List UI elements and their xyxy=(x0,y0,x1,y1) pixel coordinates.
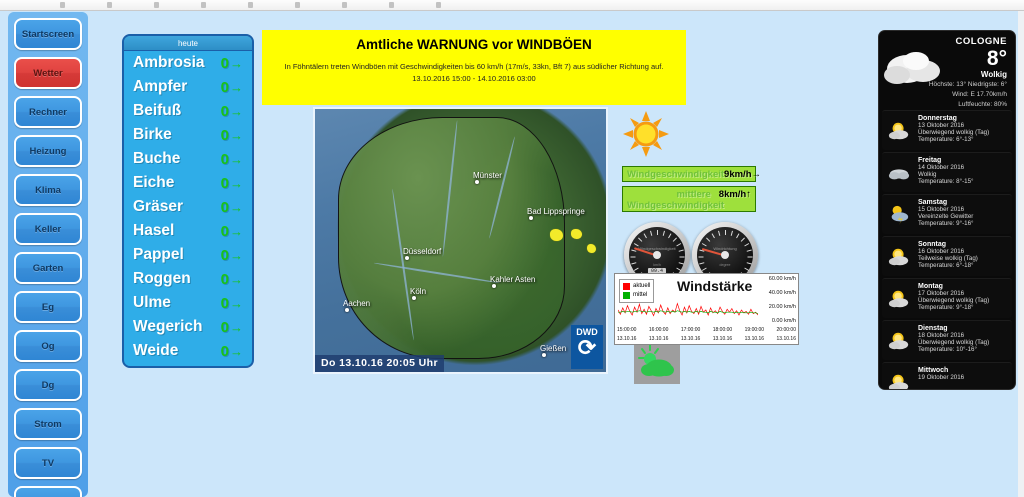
mean-wind-label-top: mittlere xyxy=(676,189,710,200)
pollen-value-group: 0→ xyxy=(221,295,243,312)
map-warning-area xyxy=(571,229,582,239)
x-tick-label: 19:00:00 xyxy=(745,327,764,333)
sidebar-item-wetter[interactable]: Wetter xyxy=(14,57,82,89)
map-city-dot xyxy=(345,308,349,312)
sidebar-item-label: Dg xyxy=(42,380,55,391)
toolbar-icon[interactable] xyxy=(436,2,441,8)
x-tick-label: 20:00:00 xyxy=(777,327,796,333)
pollen-row: Roggen0→ xyxy=(124,267,252,291)
forecast-day: Freitag xyxy=(918,157,1007,164)
pollen-row: Ambrosia0→ xyxy=(124,51,252,75)
forecast-temperature: Temperature: 9°-16° xyxy=(918,220,1007,227)
pollen-row: Buche0→ xyxy=(124,147,252,171)
toolbar-icon[interactable] xyxy=(248,2,253,8)
pollen-value-group: 0→ xyxy=(221,199,243,216)
x-tick-label: 15:00:00 xyxy=(617,327,636,333)
sidebar-item-label: Strom xyxy=(34,419,61,430)
trend-arrow-icon: → xyxy=(230,105,243,118)
trend-arrow-icon: → xyxy=(230,321,243,334)
forecast-day: Mittwoch xyxy=(918,367,1007,374)
forecast-day: Samstag xyxy=(918,199,1007,206)
pollen-name: Birke xyxy=(133,126,172,144)
x-tick-label: 13.10.16 xyxy=(745,336,764,342)
wind-speed-box: Windgeschwindigkeit 9km/h→ xyxy=(622,166,756,182)
gauge-tick xyxy=(657,230,658,235)
forecast-row[interactable]: Mittwoch19 Oktober 2016 xyxy=(882,362,1012,390)
pollen-name: Hasel xyxy=(133,222,174,240)
trend-arrow-icon: → xyxy=(230,345,243,358)
pollen-value: 0 xyxy=(221,79,229,96)
sidebar: StartscreenWetterRechnerHeizungKlimaKell… xyxy=(8,12,88,497)
pollen-value: 0 xyxy=(221,127,229,144)
gauge-tick xyxy=(638,238,642,242)
pollen-value-group: 0→ xyxy=(221,319,243,336)
pollen-row: Ulme0→ xyxy=(124,291,252,315)
map-warning-area xyxy=(587,244,596,253)
pollen-value-group: 0→ xyxy=(221,127,243,144)
forecast-day: Sonntag xyxy=(918,241,1007,248)
pollen-value: 0 xyxy=(221,55,229,72)
warning-body: In Föhntälern treten Windböen mit Geschw… xyxy=(262,61,686,84)
pollen-value: 0 xyxy=(221,319,229,336)
trend-arrow-icon: → xyxy=(230,297,243,310)
sidebar-item-dg[interactable]: Dg xyxy=(14,369,82,401)
cloud-icon xyxy=(883,43,945,91)
pollen-name: Eiche xyxy=(133,174,174,192)
forecast-description: Überwiegend wolkig (Tag) xyxy=(918,129,1007,136)
map-city-label: Bad Lippspringe xyxy=(527,207,585,216)
x-tick-label: 18:00:00 xyxy=(713,327,732,333)
sidebar-item-label: Garten xyxy=(33,263,64,274)
legend-swatch-aktuell xyxy=(623,283,630,290)
legend-label-mittel: mittel xyxy=(633,291,647,300)
gauge-tick xyxy=(680,257,685,258)
forecast-text: Freitag14 Oktober 2016WolkigTemperature:… xyxy=(918,157,1007,188)
map-city-dot xyxy=(529,216,533,220)
forecast-row[interactable]: Donnerstag13 Oktober 2016Überwiegend wol… xyxy=(882,110,1012,150)
sidebar-item-garten[interactable]: Garten xyxy=(14,252,82,284)
mean-wind-arrow-icon: ↑ xyxy=(746,189,751,200)
warning-title: Amtliche WARNUNG vor WINDBÖEN xyxy=(262,37,686,52)
forecast-temperature: Temperature: 8°-15° xyxy=(918,178,1007,185)
pollen-value: 0 xyxy=(221,343,229,360)
y-tick-label: 60.00 km/h xyxy=(769,276,796,282)
gauge-tick xyxy=(744,268,749,271)
gauge-unit-label: degree xyxy=(697,263,753,267)
legend-label-aktuell: aktuell xyxy=(633,282,650,291)
x-tick-label: 17:00:00 xyxy=(681,327,700,333)
pollen-value-group: 0→ xyxy=(221,103,243,120)
gauge-tick xyxy=(679,250,684,252)
cloud-icon xyxy=(886,157,912,188)
sidebar-item-label: Og xyxy=(41,341,54,352)
toolbar-icon[interactable] xyxy=(107,2,112,8)
toolbar-icon[interactable] xyxy=(295,2,300,8)
pollen-row: Gräser0→ xyxy=(124,195,252,219)
map-timestamp: Do 13.10.16 20:05 Uhr xyxy=(315,355,444,372)
x-tick-label: 13.10.16 xyxy=(777,336,796,342)
forecast-row[interactable]: Samstag15 Oktober 2016Vereinzelte Gewitt… xyxy=(882,194,1012,234)
forecast-row[interactable]: Montag17 Oktober 2016Überwiegend wolkig … xyxy=(882,278,1012,318)
map-city-label: Köln xyxy=(410,287,426,296)
gauge-unit-label: km/h xyxy=(629,263,685,267)
sidebar-item-label: Wetter xyxy=(33,68,62,79)
chart-legend: aktuell mittel xyxy=(619,279,654,303)
map-city-label: Kahler Asten xyxy=(490,275,535,284)
forecast-description: Vereinzelte Gewitter xyxy=(918,213,1007,220)
trend-arrow-icon: → xyxy=(230,177,243,190)
gauge-hub xyxy=(721,251,729,259)
gauge-tick xyxy=(650,231,652,236)
pollen-row: Beifuß0→ xyxy=(124,99,252,123)
chart-x-axis-dates: 13.10.1613.10.1613.10.1613.10.1613.10.16… xyxy=(617,336,796,342)
pollen-value-group: 0→ xyxy=(221,151,243,168)
sun-icon xyxy=(622,110,670,158)
forecast-temperature: Temperature: 9°-18° xyxy=(918,304,1007,311)
spiral-icon: ⟳ xyxy=(571,337,603,359)
pollen-row: Weide0→ xyxy=(124,339,252,363)
weather-humidity: Luftfeuchte: 80% xyxy=(879,100,1007,109)
gauge-tick xyxy=(702,268,707,271)
forecast-text: Donnerstag13 Oktober 2016Überwiegend wol… xyxy=(918,115,1007,146)
gauge-tick xyxy=(725,230,726,235)
pollen-value-group: 0→ xyxy=(221,55,243,72)
sidebar-item-strom[interactable]: Strom xyxy=(14,408,82,440)
pollen-value: 0 xyxy=(221,247,229,264)
sidebar-item-label: TV xyxy=(42,458,54,469)
forecast-description: Überwiegend wolkig (Tag) xyxy=(918,297,1007,304)
x-tick-label: 13.10.16 xyxy=(713,336,732,342)
sidebar-item-heizung[interactable]: Heizung xyxy=(14,135,82,167)
forecast-text: Montag17 Oktober 2016Überwiegend wolkig … xyxy=(918,283,1007,314)
gauge-tick xyxy=(699,250,704,252)
warning-text: In Föhntälern treten Windböen mit Geschw… xyxy=(285,62,664,71)
wind-speed-value: 9km/h xyxy=(724,169,751,180)
sidebar-item-klima[interactable]: Klima xyxy=(14,174,82,206)
sidebar-item-label: Keller xyxy=(35,224,61,235)
sun-cloud-icon xyxy=(886,283,912,314)
gauge-tick xyxy=(644,233,647,238)
gauge-tick xyxy=(668,233,671,238)
map-city-dot xyxy=(412,296,416,300)
x-tick-label: 13.10.16 xyxy=(649,336,668,342)
gauge-tick xyxy=(718,231,720,236)
toolbar-icon[interactable] xyxy=(60,2,65,8)
sun-cloud-icon xyxy=(886,241,912,272)
pollen-value-group: 0→ xyxy=(221,271,243,288)
forecast-date: 19 Oktober 2016 xyxy=(918,374,1007,381)
gauge-tick xyxy=(741,238,745,242)
x-tick-label: 16:00:00 xyxy=(649,327,668,333)
pollen-row: Hasel0→ xyxy=(124,219,252,243)
forecast-row[interactable]: Freitag14 Oktober 2016WolkigTemperature:… xyxy=(882,152,1012,192)
y-tick-label: 0.00 km/h xyxy=(772,318,796,324)
sidebar-item-label: Eg xyxy=(42,302,54,313)
forecast-row[interactable]: Sonntag16 Oktober 2016Teilweise wolkig (… xyxy=(882,236,1012,276)
sidebar-item-startscreen[interactable]: Startscreen xyxy=(14,18,82,50)
pollen-row: Eiche0→ xyxy=(124,171,252,195)
gauge-tick xyxy=(706,238,710,242)
sidebar-item-og[interactable]: Og xyxy=(14,330,82,362)
pollen-value: 0 xyxy=(221,271,229,288)
wind-strength-chart[interactable]: Windstärke aktuell mittel 60.00 km/h 40.… xyxy=(614,273,799,345)
pollen-value-group: 0→ xyxy=(221,175,243,192)
mean-wind-value: 8km/h xyxy=(719,189,746,200)
pollen-name: Ulme xyxy=(133,294,171,312)
gauge-tick xyxy=(747,250,752,252)
wind-direction-arrow-icon: → xyxy=(752,169,762,180)
pollen-name: Beifuß xyxy=(133,102,181,120)
y-tick-label: 20.00 km/h xyxy=(769,304,796,310)
forecast-temperature: Temperature: 10°-16° xyxy=(918,346,1007,353)
forecast-day: Dienstag xyxy=(918,325,1007,332)
pollen-value: 0 xyxy=(221,223,229,240)
map-city-dot xyxy=(405,256,409,260)
forecast-row[interactable]: Dienstag18 Oktober 2016Überwiegend wolki… xyxy=(882,320,1012,360)
chart-title: Windstärke xyxy=(677,278,752,294)
sidebar-item-label: Heizung xyxy=(30,146,67,157)
forecast-date: 15 Oktober 2016 xyxy=(918,206,1007,213)
pollen-row: Ampfer0→ xyxy=(124,75,252,99)
sidebar-item-keller[interactable]: Keller xyxy=(14,213,82,245)
pollen-name: Pappel xyxy=(133,246,184,264)
forecast-day: Donnerstag xyxy=(918,115,1007,122)
pollen-name: Ampfer xyxy=(133,78,187,96)
page-scrollbar[interactable] xyxy=(1018,11,1024,497)
legend-item: aktuell xyxy=(623,282,650,291)
gauge-tick xyxy=(736,233,739,238)
gauge-tick xyxy=(748,257,753,258)
sidebar-item-label: Klima xyxy=(35,185,61,196)
pollen-name: Roggen xyxy=(133,270,191,288)
warning-period: 13.10.2016 15:00 - 14.10.2016 03:00 xyxy=(412,74,535,83)
sidebar-item-rechner[interactable]: Rechner xyxy=(14,96,82,128)
forecast-description: Teilweise wolkig (Tag) xyxy=(918,255,1007,262)
legend-swatch-mittel xyxy=(623,292,630,299)
sun-cloud-icon xyxy=(886,115,912,146)
forecast-description: Überwiegend wolkig (Tag) xyxy=(918,339,1007,346)
wind-speed-label: Windgeschwindigkeit xyxy=(627,169,724,180)
pollen-row: Pappel0→ xyxy=(124,243,252,267)
gauge-tick xyxy=(731,231,733,236)
forecast-text: Samstag15 Oktober 2016Vereinzelte Gewitt… xyxy=(918,199,1007,230)
pollen-value: 0 xyxy=(221,199,229,216)
map-city-dot xyxy=(475,180,479,184)
forecast-temperature: Temperature: 6°-18° xyxy=(918,262,1007,269)
pollen-value: 0 xyxy=(221,103,229,120)
map-city-dot xyxy=(492,284,496,288)
dwd-logo: DWD ⟳ xyxy=(571,325,603,369)
sidebar-item-eg[interactable]: Eg xyxy=(14,291,82,323)
legend-item: mittel xyxy=(623,291,650,300)
chart-series-aktuell xyxy=(618,304,758,316)
sidebar-item-label: Startscreen xyxy=(22,29,74,40)
forecast-text: Sonntag16 Oktober 2016Teilweise wolkig (… xyxy=(918,241,1007,272)
trend-arrow-icon: → xyxy=(230,249,243,262)
forecast-day: Montag xyxy=(918,283,1007,290)
pollen-value-group: 0→ xyxy=(221,223,243,240)
gauge-tick xyxy=(663,231,665,236)
gauge-tick xyxy=(673,238,677,242)
map-city-label: Düsseldorf xyxy=(403,247,441,256)
map-city-dot xyxy=(542,353,546,357)
pollen-value-group: 0→ xyxy=(221,247,243,264)
trend-arrow-icon: → xyxy=(230,273,243,286)
pollen-value: 0 xyxy=(221,151,229,168)
trend-arrow-icon: → xyxy=(230,81,243,94)
sun-cloud-status-icon xyxy=(634,340,680,384)
toolbar-icon[interactable] xyxy=(389,2,394,8)
dwd-radar-map[interactable]: MünsterBad LippspringeDüsseldorfKahler A… xyxy=(313,107,608,374)
map-city-label: Münster xyxy=(473,171,502,180)
gauge-hub xyxy=(653,251,661,259)
sidebar-item-label: Rechner xyxy=(29,107,67,118)
pollen-name: Gräser xyxy=(133,198,183,216)
weather-widget: COLOGNE 8° Wolkig Höchste: 13° Niedrigst… xyxy=(878,30,1016,390)
map-warning-area xyxy=(550,229,563,241)
gauge-tick xyxy=(631,257,636,258)
forecast-date: 18 Oktober 2016 xyxy=(918,332,1007,339)
pollen-name: Wegerich xyxy=(133,318,203,336)
forecast-text: Dienstag18 Oktober 2016Überwiegend wolki… xyxy=(918,325,1007,356)
pollen-row: Birke0→ xyxy=(124,123,252,147)
gauge-tick xyxy=(712,233,715,238)
mean-wind-label-bottom: Windgeschwindigkeit xyxy=(627,200,724,211)
sidebar-item-partial[interactable] xyxy=(14,486,82,497)
pollen-row: Wegerich0→ xyxy=(124,315,252,339)
page-root: StartscreenWetterRechnerHeizungKlimaKell… xyxy=(0,0,1024,497)
toolbar-icon[interactable] xyxy=(154,2,159,8)
pollen-value: 0 xyxy=(221,295,229,312)
weather-warning-banner: Amtliche WARNUNG vor WINDBÖEN In Föhntäl… xyxy=(262,30,686,105)
toolbar-icon[interactable] xyxy=(342,2,347,8)
trend-arrow-icon: → xyxy=(230,129,243,142)
forecast-date: 13 Oktober 2016 xyxy=(918,122,1007,129)
pollen-header: heute xyxy=(124,36,252,51)
trend-arrow-icon: → xyxy=(230,57,243,70)
forecast-date: 14 Oktober 2016 xyxy=(918,164,1007,171)
forecast-date: 16 Oktober 2016 xyxy=(918,248,1007,255)
gauge-tick xyxy=(634,268,639,271)
pollen-value-group: 0→ xyxy=(221,79,243,96)
browser-toolbar xyxy=(0,0,1024,11)
map-city-label: Gießen xyxy=(540,344,566,353)
current-weather: COLOGNE 8° Wolkig Höchste: 13° Niedrigst… xyxy=(879,31,1015,108)
x-tick-label: 13.10.16 xyxy=(617,336,636,342)
y-tick-label: 40.00 km/h xyxy=(769,290,796,296)
chart-x-axis-times: 15:00:0016:00:0017:00:0018:00:0019:00:00… xyxy=(617,327,796,333)
gauge-tick xyxy=(699,257,704,258)
trend-arrow-icon: → xyxy=(230,201,243,214)
pollen-value: 0 xyxy=(221,175,229,192)
gauge-tick xyxy=(676,268,681,271)
forecast-temperature: Temperature: 6°-13° xyxy=(918,136,1007,143)
forecast-date: 17 Oktober 2016 xyxy=(918,290,1007,297)
forecast-description: Wolkig xyxy=(918,171,1007,178)
gauge-tick xyxy=(631,250,636,252)
forecast-text: Mittwoch19 Oktober 2016 xyxy=(918,367,1007,390)
sun-cloud-icon xyxy=(886,325,912,356)
x-tick-label: 13.10.16 xyxy=(681,336,700,342)
trend-arrow-icon: → xyxy=(230,225,243,238)
toolbar-icon[interactable] xyxy=(201,2,206,8)
mean-wind-speed-box: mittlere 8km/h↑ Windgeschwindigkeit xyxy=(622,186,756,212)
pollen-panel: heute Ambrosia0→Ampfer0→Beifuß0→Birke0→B… xyxy=(122,34,254,368)
sun-cloud-icon xyxy=(886,367,912,390)
weather-wind: Wind: E 17.70km/h xyxy=(879,90,1007,99)
map-city-label: Aachen xyxy=(343,299,370,308)
pollen-value-group: 0→ xyxy=(221,343,243,360)
pollen-name: Weide xyxy=(133,342,178,360)
trend-arrow-icon: → xyxy=(230,153,243,166)
sidebar-item-tv[interactable]: TV xyxy=(14,447,82,479)
pollen-name: Buche xyxy=(133,150,180,168)
pollen-name: Ambrosia xyxy=(133,54,205,72)
storm-icon xyxy=(886,199,912,230)
